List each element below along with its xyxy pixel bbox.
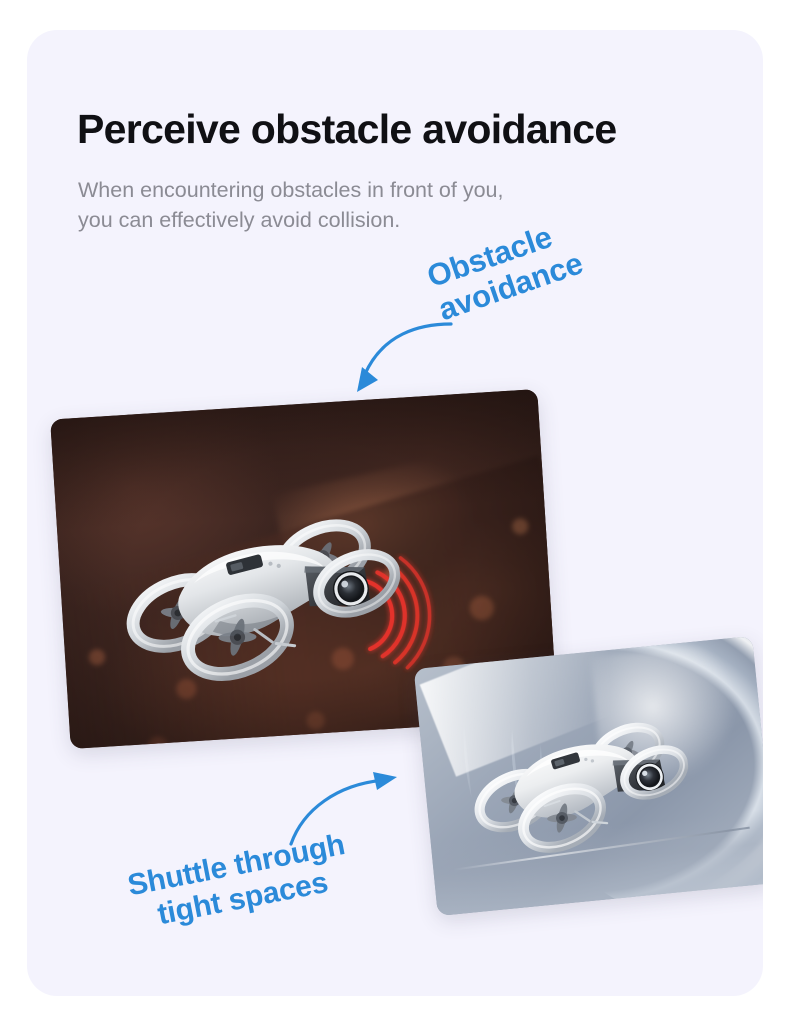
page-subtitle: When encountering obstacles in front of … [78, 175, 503, 235]
page-title: Perceive obstacle avoidance [77, 106, 616, 153]
tunnel-glow [590, 643, 746, 795]
tunnel-photo [414, 636, 763, 916]
annotation-shuttle-tight-spaces: Shuttle through tight spaces [125, 828, 354, 936]
curved-arrow-down-left-icon [347, 318, 457, 398]
feature-panel: Perceive obstacle avoidance When encount… [27, 30, 763, 996]
product-feature-page: Perceive obstacle avoidance When encount… [0, 0, 790, 1035]
